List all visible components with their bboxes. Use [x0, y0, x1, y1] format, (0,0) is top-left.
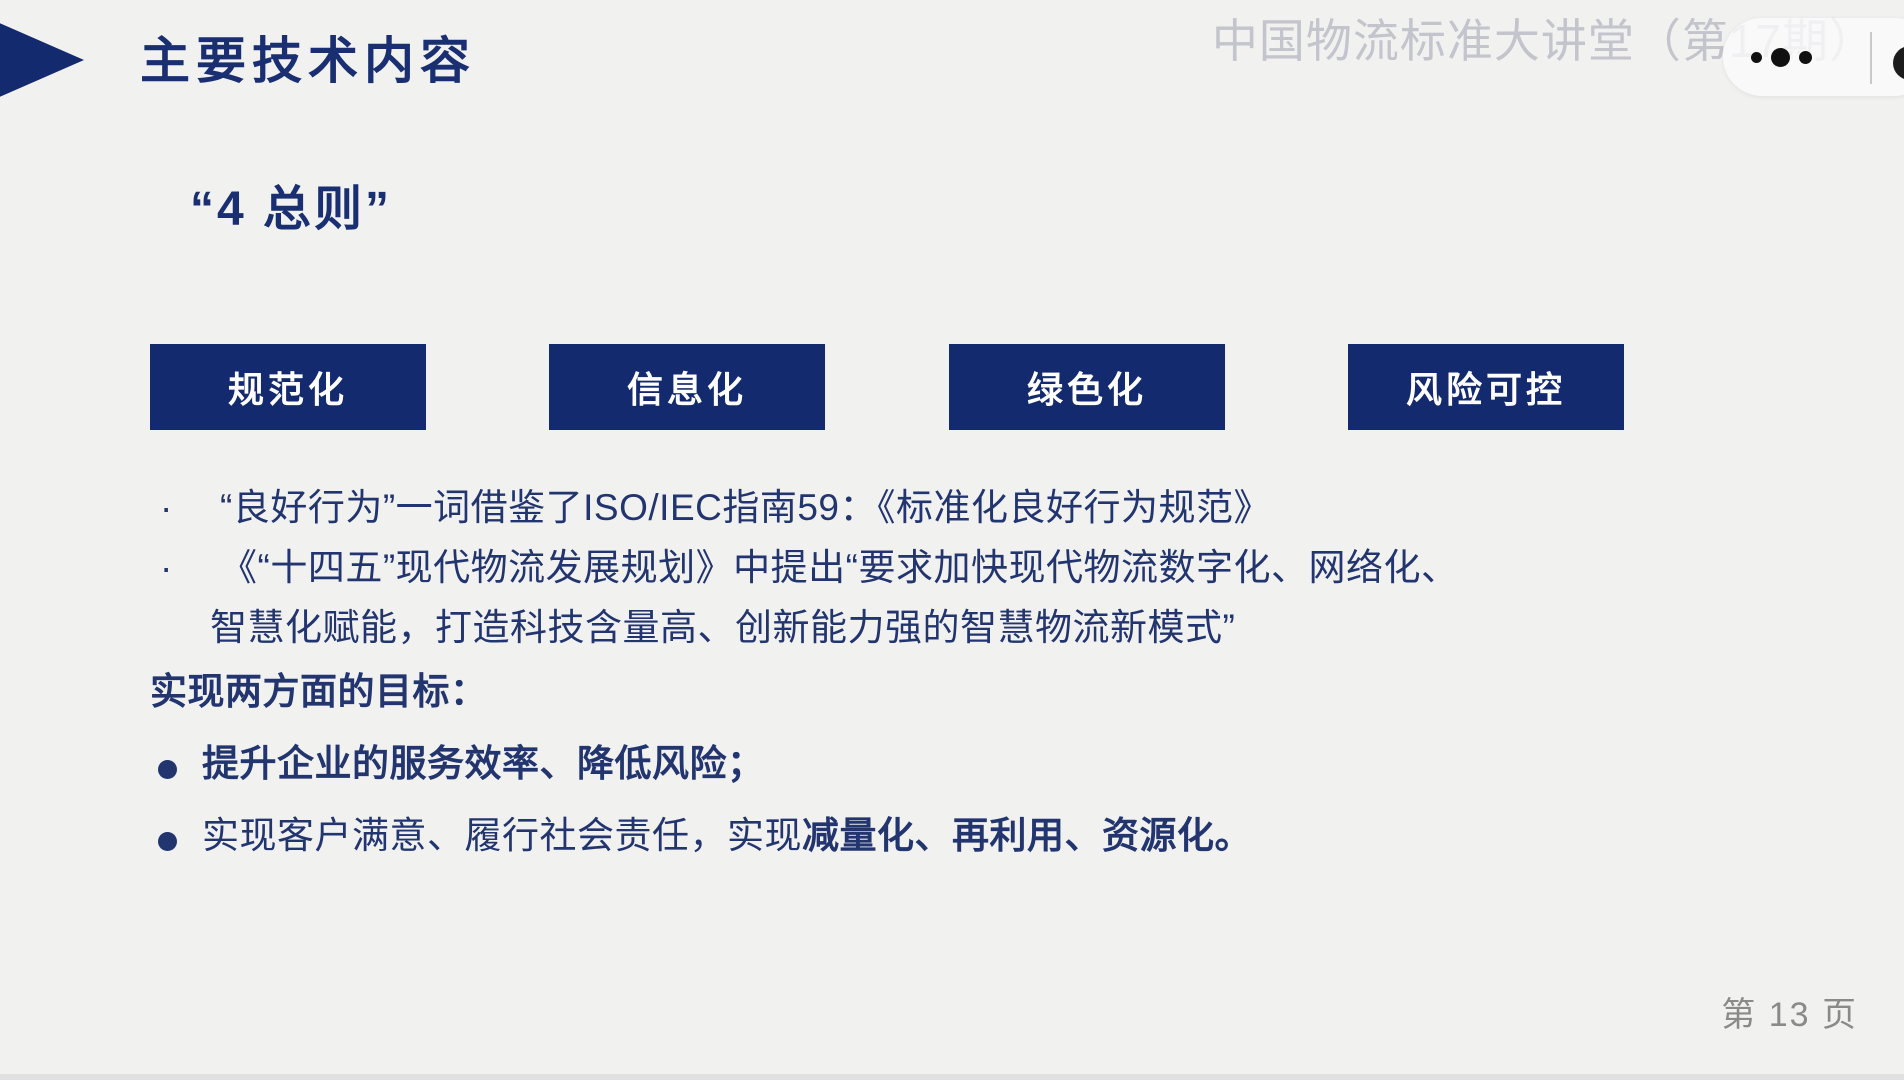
- three-dots-icon[interactable]: [1751, 48, 1812, 67]
- goal-text: 提升企业的服务效率、降低风险；: [202, 734, 1710, 794]
- pillar-box-3: 绿色化: [949, 344, 1225, 430]
- bullet-dot-icon: [150, 806, 202, 851]
- goal-text-bold: 减量化、再利用、资源化。: [802, 815, 1252, 856]
- goal-text-normal: 实现客户满意、履行社会责任，实现: [202, 815, 802, 856]
- bullet-text: 《“十四五”现代物流发展规划》中提出“要求加快现代物流数字化、网络化、: [220, 538, 1710, 598]
- header-arrow-icon: [0, 18, 84, 102]
- player-overlay-pill[interactable]: [1723, 18, 1904, 96]
- page-number: 第 13 页: [1721, 987, 1858, 1036]
- bullet-item: · “良好行为”一词借鉴了ISO/IEC指南59：《标准化良好行为规范》: [150, 478, 1710, 538]
- pillar-box-1: 规范化: [150, 344, 426, 430]
- body-content: · “良好行为”一词借鉴了ISO/IEC指南59：《标准化良好行为规范》 · 《…: [150, 478, 1710, 866]
- page-title: 主要技术内容: [140, 36, 476, 86]
- bullet-text: “良好行为”一词借鉴了ISO/IEC指南59：《标准化良好行为规范》: [220, 478, 1710, 538]
- bullet-marker-icon: ·: [150, 478, 220, 538]
- pillar-label: 绿色化: [1027, 361, 1147, 413]
- slide-canvas: 主要技术内容 中国物流标准大讲堂（第17期） “4 总则” 规范化 信息化 绿色…: [0, 0, 1904, 1080]
- bottom-bar: [0, 1074, 1904, 1080]
- bullet-marker-icon: ·: [150, 538, 220, 598]
- bullet-continuation-text: 智慧化赋能，打造科技含量高、创新能力强的智慧物流新模式”: [150, 598, 1710, 658]
- goal-text: 实现客户满意、履行社会责任，实现减量化、再利用、资源化。: [202, 806, 1710, 866]
- section-heading: “4 总则”: [190, 186, 392, 234]
- pillar-label: 规范化: [228, 361, 348, 413]
- pillar-box-2: 信息化: [549, 344, 825, 430]
- overlay-divider: [1870, 32, 1872, 84]
- goals-heading: 实现两方面的目标：: [150, 662, 1710, 722]
- pillar-row: 规范化 信息化 绿色化 风险可控: [150, 344, 1630, 430]
- bullet-dot-icon: [150, 734, 202, 779]
- pillar-label: 信息化: [627, 361, 747, 413]
- goal-item: 实现客户满意、履行社会责任，实现减量化、再利用、资源化。: [150, 806, 1710, 866]
- bullet-item: · 《“十四五”现代物流发展规划》中提出“要求加快现代物流数字化、网络化、: [150, 538, 1710, 598]
- goal-item: 提升企业的服务效率、降低风险；: [150, 734, 1710, 794]
- pillar-box-4: 风险可控: [1348, 344, 1624, 430]
- goal-text-bold: 提升企业的服务效率、降低风险；: [202, 743, 765, 784]
- pillar-label: 风险可控: [1406, 361, 1566, 413]
